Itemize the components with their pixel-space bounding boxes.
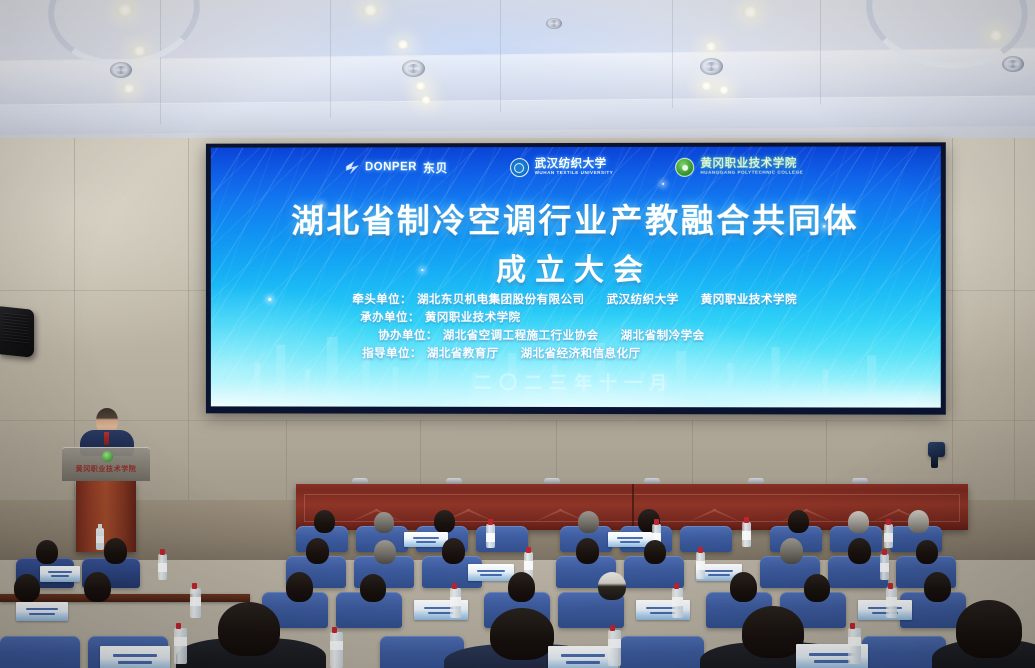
organizer-label: 承办单位：: [360, 311, 420, 324]
water-bottle: [608, 630, 621, 666]
organizer-label: 协办单位：: [378, 329, 438, 342]
wall-seam: [0, 420, 1035, 421]
organizer-value: 湖北省教育厅: [427, 347, 499, 360]
audience-head: [578, 511, 599, 533]
wall-seam: [188, 138, 189, 518]
audience-head: [442, 538, 465, 564]
organizer-value: 湖北省空调工程施工行业协会: [443, 329, 599, 342]
ceiling-vent-icon: [546, 18, 562, 29]
logo-wtu-name-cn: 武汉纺织大学: [535, 158, 607, 170]
organizer-value: 黄冈职业技术学院: [425, 311, 521, 324]
ceiling-seam: [672, 0, 673, 108]
desk-name-card: [404, 532, 448, 547]
audience-head: [804, 574, 830, 602]
ceiling-downlight: [414, 82, 427, 90]
desk-microphone-icon: [852, 478, 868, 484]
wtu-seal-icon: [510, 158, 529, 177]
water-bottle: [330, 632, 343, 668]
hgp-seal-icon: [675, 158, 694, 177]
organizer-value-3: 黄冈职业技术学院: [701, 293, 797, 306]
audience-head: [36, 540, 58, 564]
water-bottle: [450, 588, 461, 618]
ceiling-downlight: [362, 4, 379, 16]
green-circle-emblem-icon: [102, 451, 113, 462]
logo-hgp-name: 黄冈职业技术学院 HUANGGANG POLYTECHNIC COLLEGE: [700, 159, 803, 176]
desk-microphone-icon: [748, 478, 764, 484]
ceiling-downlight: [742, 6, 759, 18]
audience-head: [644, 540, 666, 564]
audience-head: [788, 510, 809, 533]
ceiling-vent-icon: [1002, 56, 1024, 72]
logo-donper-name-en: DONPER: [365, 162, 417, 174]
water-bottle: [158, 554, 167, 580]
desk-microphone-icon: [446, 478, 462, 484]
water-bottle: [174, 628, 187, 664]
audience-head: [306, 538, 329, 564]
audience-head: [314, 510, 335, 533]
audience-head: [848, 538, 871, 564]
ceiling-downlight: [132, 46, 147, 56]
wall-seam: [1014, 138, 1015, 518]
audience-head: [730, 572, 757, 602]
audience-head: [374, 540, 396, 564]
logo-donper: DONPER 东贝: [346, 161, 448, 174]
water-bottle: [886, 588, 897, 618]
audience-head: [104, 538, 127, 564]
organizer-label: 指导单位：: [362, 347, 422, 360]
organizer-row: 牵头单位：湖北东贝机电集团股份有限公司武汉纺织大学黄冈职业技术学院: [352, 291, 797, 307]
water-bottle: [696, 552, 705, 579]
organizer-value: 湖北东贝机电集团股份有限公司: [417, 293, 585, 306]
seat: [680, 526, 732, 552]
audience-head-foreground: [490, 608, 554, 660]
audience-head: [14, 574, 40, 602]
organizer-value-2: 湖北省制冷学会: [620, 329, 704, 342]
ceiling-vent-icon: [700, 58, 723, 75]
logo-wtu-name: 武汉纺织大学 WUHAN TEXTILE UNIVERSITY: [535, 159, 614, 176]
ceiling-downlight: [420, 96, 432, 104]
ceiling-downlight: [396, 40, 410, 49]
logo-huanggang-polytechnic: 黄冈职业技术学院 HUANGGANG POLYTECHNIC COLLEGE: [675, 158, 803, 177]
audience-head-foreground: [742, 606, 804, 658]
ceiling-downlight: [718, 86, 730, 94]
desk-name-card: [40, 566, 80, 582]
wall-speaker-icon: [0, 306, 34, 358]
audience-head-foreground: [218, 602, 280, 656]
organizer-value-2: 湖北省经济和信息化厅: [521, 347, 641, 360]
desk-microphone-icon: [352, 478, 368, 484]
ceiling-downlight: [988, 30, 1004, 41]
audience-head-with-cap: [598, 572, 626, 600]
ceiling-seam: [330, 0, 331, 118]
audience-head-foreground: [956, 600, 1022, 658]
podium-panel: 黄冈职业技术学院: [62, 447, 150, 481]
ceiling-vent-icon: [110, 62, 132, 78]
audience-seating: [0, 496, 1035, 668]
ceiling-downlight: [116, 4, 134, 16]
ceiling-downlight: [700, 82, 713, 90]
wall-seam: [952, 138, 953, 518]
event-date: 二〇二三年十一月: [211, 369, 941, 396]
audience-head: [374, 512, 394, 533]
audience-head: [84, 572, 111, 602]
water-bottle: [848, 628, 861, 664]
audience-head: [360, 574, 386, 602]
ceiling-downlight: [122, 84, 136, 93]
wall-camera-icon: [928, 442, 945, 457]
water-bottle: [742, 522, 751, 547]
logo-hgp-name-en: HUANGGANG POLYTECHNIC COLLEGE: [700, 171, 803, 176]
organizer-value-2: 武汉纺织大学: [606, 293, 678, 306]
screen-content: DONPER 东贝 武汉纺织大学 WUHAN TEXTILE UNIVERSIT…: [211, 146, 941, 407]
water-bottle: [884, 524, 893, 548]
ceiling-seam: [820, 0, 821, 104]
sponsor-logo-row: DONPER 东贝 武汉纺织大学 WUHAN TEXTILE UNIVERSIT…: [211, 157, 941, 177]
audience-head: [286, 572, 313, 602]
ceiling: [0, 0, 1035, 152]
audience-head: [434, 510, 455, 533]
desk-name-card: [100, 646, 170, 668]
logo-donper-name-cn: 东贝: [423, 162, 448, 174]
water-bottle: [672, 588, 683, 618]
organizer-row: 协办单位：湖北省空调工程施工行业协会湖北省制冷学会: [378, 327, 705, 343]
desk-name-card: [468, 564, 514, 581]
speaker-tie: [104, 432, 109, 445]
organizer-label: 牵头单位：: [352, 293, 412, 306]
desk-microphone-icon: [544, 478, 560, 484]
desk-microphone-icon: [644, 478, 660, 484]
audience-head: [848, 511, 869, 533]
water-bottle: [190, 588, 201, 618]
ceiling-seam: [500, 0, 501, 112]
event-title-main: 湖北省制冷空调行业产教融合共同体: [211, 202, 941, 241]
logo-wuhan-textile-university: 武汉纺织大学 WUHAN TEXTILE UNIVERSITY: [510, 158, 614, 177]
ceiling-vent-icon: [402, 60, 425, 77]
water-bottle: [486, 524, 495, 548]
desk-name-card: [858, 600, 912, 620]
seat: [620, 636, 704, 668]
event-title-sub: 成立大会: [211, 245, 941, 289]
podium-institution-name: 黄冈职业技术学院: [68, 464, 144, 474]
seat: [476, 526, 528, 552]
led-screen: DONPER 东贝 武汉纺织大学 WUHAN TEXTILE UNIVERSIT…: [206, 142, 946, 414]
audience-head: [780, 538, 803, 564]
organizer-row: 承办单位：黄冈职业技术学院: [360, 309, 520, 325]
ceiling-downlight: [704, 42, 718, 51]
audience-head: [908, 510, 929, 533]
seat: [0, 636, 80, 668]
water-bottle: [880, 554, 889, 580]
logo-hgp-name-cn: 黄冈职业技术学院: [700, 158, 796, 170]
donper-swoosh-icon: [346, 161, 359, 174]
audience-head: [576, 538, 599, 564]
logo-wtu-name-en: WUHAN TEXTILE UNIVERSITY: [535, 171, 614, 176]
led-screen-surface: DONPER 东贝 武汉纺织大学 WUHAN TEXTILE UNIVERSIT…: [211, 146, 941, 407]
audience-head: [508, 572, 535, 602]
organizer-row: 指导单位：湖北省教育厅湖北省经济和信息化厅: [362, 345, 640, 361]
audience-head: [924, 572, 951, 602]
organizer-list: 牵头单位：湖北东贝机电集团股份有限公司武汉纺织大学黄冈职业技术学院 承办单位：黄…: [211, 291, 941, 361]
audience-head: [916, 540, 938, 564]
desk-name-card: [16, 602, 68, 621]
conference-hall-photo: DONPER 东贝 武汉纺织大学 WUHAN TEXTILE UNIVERSIT…: [0, 0, 1035, 668]
